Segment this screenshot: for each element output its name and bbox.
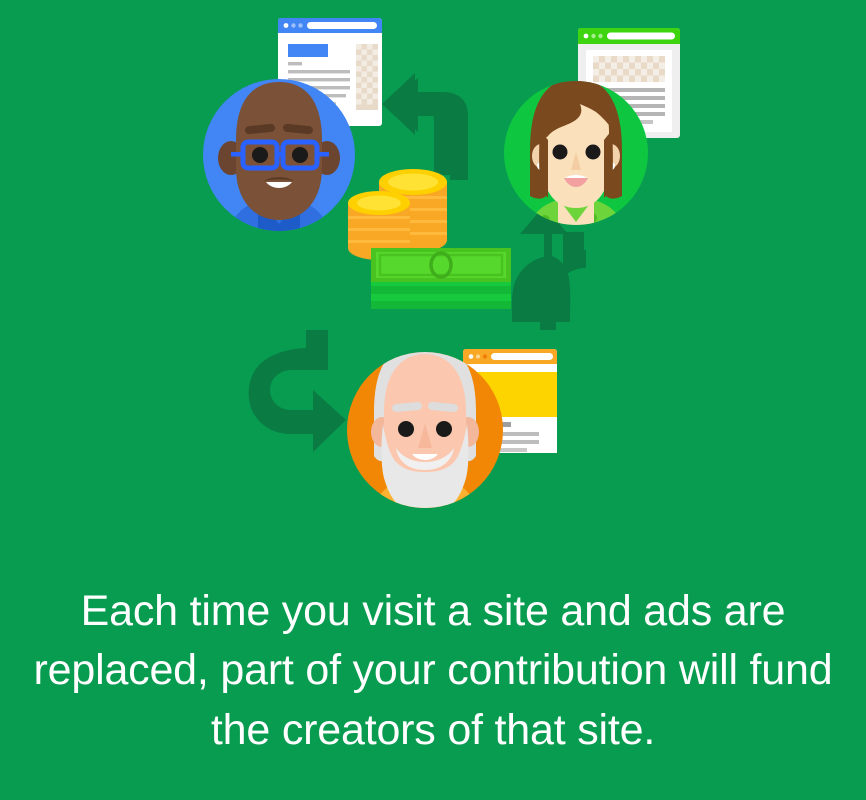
eye-right bbox=[586, 145, 601, 160]
window-dot-3-icon bbox=[483, 354, 487, 358]
onboarding-slide: Each time you visit a site and ads are r… bbox=[0, 0, 866, 800]
accent-block bbox=[288, 44, 328, 57]
window-dot-2-icon bbox=[291, 23, 295, 27]
contribution-funding-cycle-illustration bbox=[0, 0, 866, 540]
page-caption: Each time you visit a site and ads are r… bbox=[0, 582, 866, 760]
window-dot-1-icon bbox=[284, 23, 289, 28]
bald-man-with-glasses-avatar bbox=[203, 79, 355, 250]
eye-right bbox=[436, 421, 452, 437]
window-dot-1-icon bbox=[469, 354, 474, 359]
eye-left bbox=[553, 145, 568, 160]
image-placeholder bbox=[593, 56, 665, 82]
window-dot-3-icon bbox=[598, 34, 602, 38]
window-dot-2-icon bbox=[591, 34, 595, 38]
window-dot-2-icon bbox=[476, 354, 480, 358]
green-banknote-stack bbox=[371, 248, 511, 309]
window-dot-1-icon bbox=[584, 34, 589, 39]
eye-left bbox=[252, 147, 268, 163]
url-bar bbox=[607, 33, 675, 40]
arrow-creator-to-user-left-icon bbox=[382, 73, 468, 180]
window-dot-3-icon bbox=[298, 23, 302, 27]
eye-left bbox=[398, 421, 414, 437]
eye-right bbox=[292, 147, 308, 163]
url-bar bbox=[307, 22, 377, 29]
gold-coin-stacks bbox=[348, 169, 447, 260]
arrow-loop-to-creator-right-icon bbox=[249, 330, 346, 452]
image-placeholder bbox=[356, 44, 378, 110]
url-bar bbox=[491, 353, 553, 360]
illustration-container bbox=[0, 0, 866, 540]
